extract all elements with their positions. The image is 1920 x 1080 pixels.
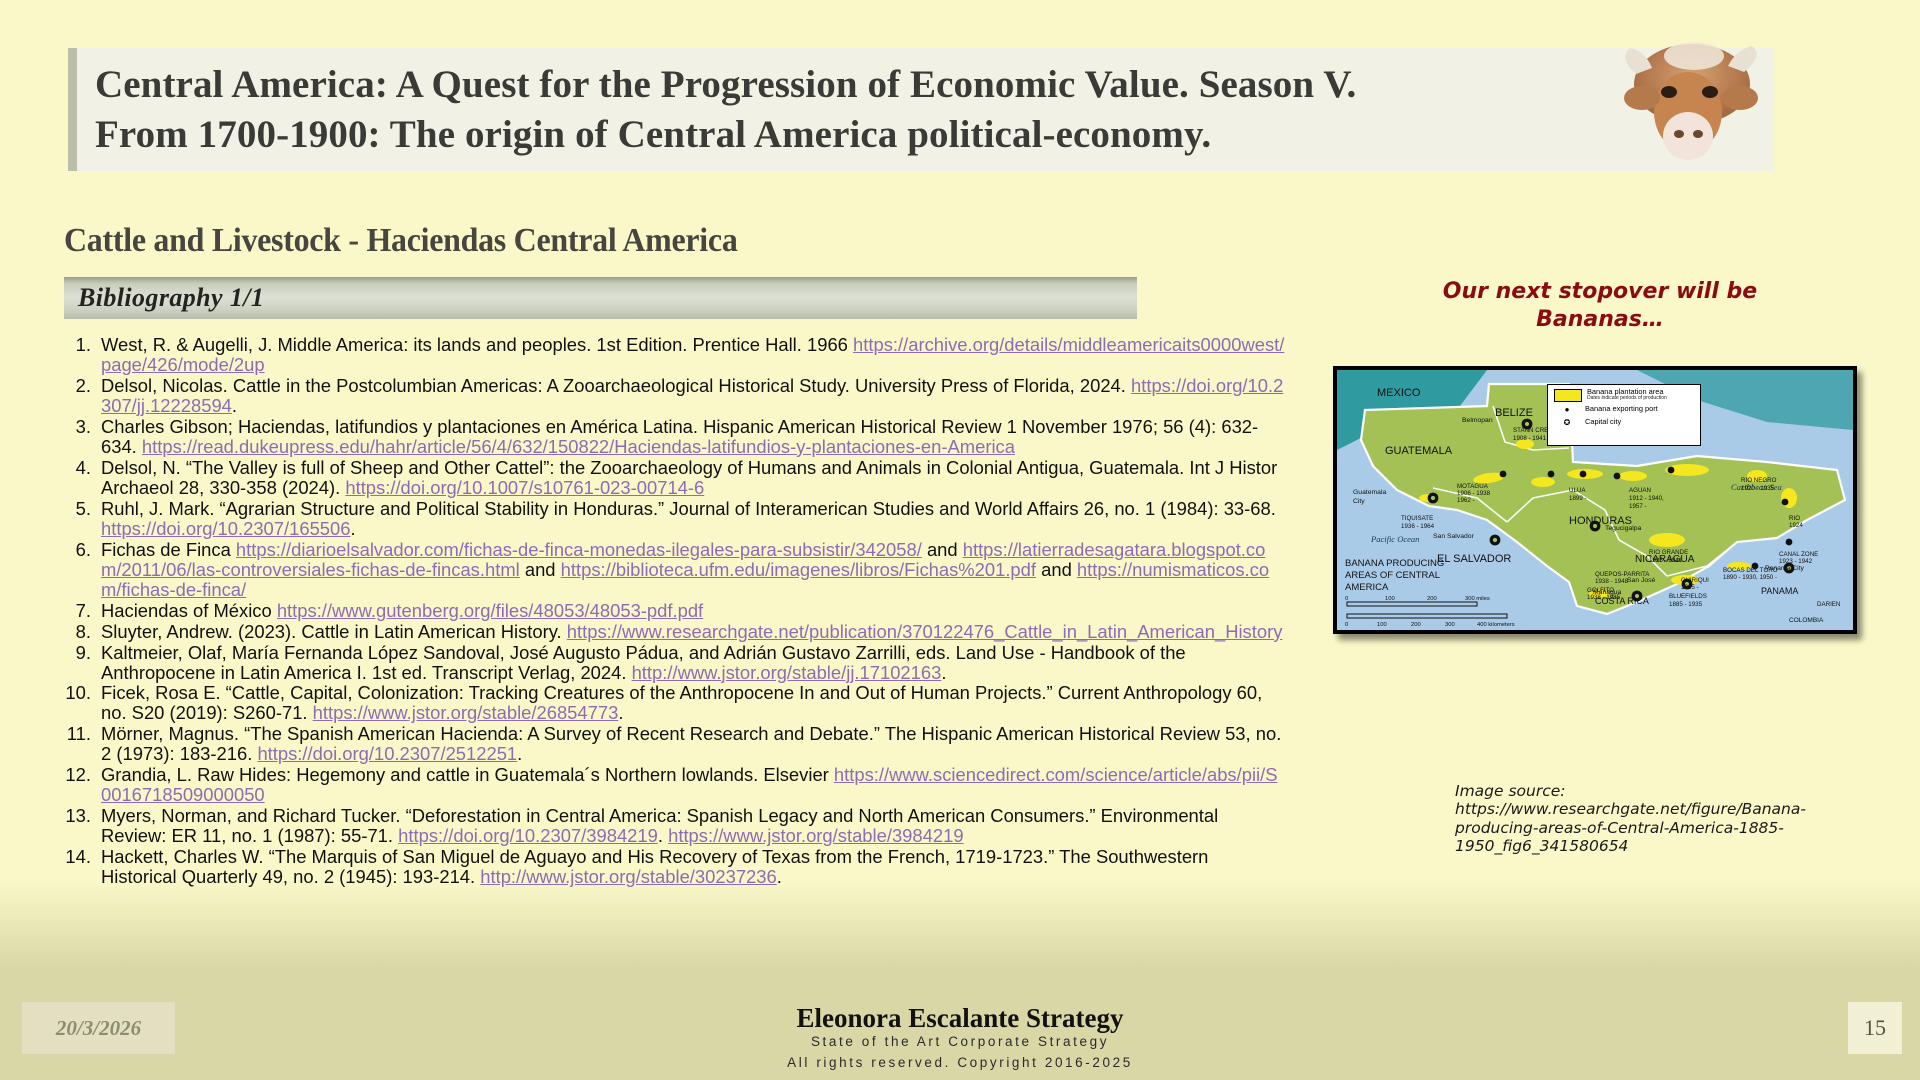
- svg-text:RIO: RIO: [1789, 515, 1800, 522]
- bibliography-entry-number: 5.: [55, 499, 101, 539]
- svg-text:MOTAGUA: MOTAGUA: [1457, 483, 1489, 490]
- bibliography-entry-number: 11.: [55, 724, 101, 764]
- bibliography-entry-text: Delsol, N. “The Valley is full of Sheep …: [101, 458, 1285, 498]
- svg-text:CHIRIQUI: CHIRIQUI: [1681, 577, 1709, 584]
- svg-text:RIO GRANDE: RIO GRANDE: [1649, 549, 1688, 556]
- svg-text:1925 -: 1925 -: [1681, 584, 1699, 591]
- bibliography-link[interactable]: https://www.researchgate.net/publication…: [567, 621, 1283, 642]
- bibliography-bar-label: Bibliography 1/1: [64, 283, 264, 313]
- bibliography-link[interactable]: https://doi.org/10.2307/165506: [101, 518, 351, 539]
- bibliography-entry-number: 9.: [55, 643, 101, 683]
- bibliography-link[interactable]: https://doi.org/10.1007/s10761-023-00714…: [345, 477, 704, 498]
- svg-text:PANAMA: PANAMA: [1761, 586, 1798, 596]
- bibliography-entry-number: 12.: [55, 765, 101, 805]
- legend-plantation-sub: Dates indicate periods of production: [1587, 396, 1667, 402]
- title-line-1: Central America: A Quest for the Progres…: [95, 60, 1356, 110]
- svg-text:200: 200: [1411, 622, 1421, 628]
- bibliography-entry-text: Ruhl, J. Mark. “Agrarian Structure and P…: [101, 499, 1285, 539]
- bibliography-entry-number: 3.: [55, 417, 101, 457]
- image-source-caption: Image source: https://www.researchgate.n…: [1455, 782, 1855, 855]
- bibliography-link[interactable]: https://doi.org/10.2307/2512251: [257, 743, 517, 764]
- bibliography-entry: 3.Charles Gibson; Haciendas, latifundios…: [55, 417, 1285, 457]
- svg-text:300 miles: 300 miles: [1465, 596, 1490, 602]
- bibliography-entry-number: 13.: [55, 806, 101, 846]
- svg-text:DARIEN: DARIEN: [1817, 601, 1840, 608]
- svg-text:GOLFITO: GOLFITO: [1587, 587, 1614, 594]
- svg-text:1925 - 1941: 1925 - 1941: [1649, 557, 1683, 564]
- svg-text:AREAS OF CENTRAL: AREAS OF CENTRAL: [1345, 570, 1440, 581]
- bibliography-link[interactable]: https://www.gutenberg.org/files/48053/48…: [277, 600, 703, 621]
- svg-text:QUEPOS-PARRITA: QUEPOS-PARRITA: [1595, 571, 1650, 578]
- svg-text:1912 - 1940,: 1912 - 1940,: [1629, 495, 1664, 502]
- title-accent-bar: [68, 48, 77, 171]
- svg-text:BOCAS DEL TORO: BOCAS DEL TORO: [1723, 567, 1778, 574]
- bibliography-entry: 2.Delsol, Nicolas. Cattle in the Postcol…: [55, 376, 1285, 416]
- bibliography-link[interactable]: http://www.jstor.org/stable/jj.17102163: [632, 662, 942, 683]
- bibliography-entry: 10.Ficek, Rosa E. “Cattle, Capital, Colo…: [55, 683, 1285, 723]
- svg-text:1957 -: 1957 -: [1629, 503, 1647, 510]
- svg-text:Belmopan: Belmopan: [1462, 417, 1493, 424]
- bibliography-text-fragment: .: [351, 518, 356, 539]
- bibliography-text-fragment: West, R. & Augelli, J. Middle America: i…: [101, 334, 853, 355]
- bibliography-entry-text: Sluyter, Andrew. (2023). Cattle in Latin…: [101, 622, 1285, 642]
- bibliography-entry: 8.Sluyter, Andrew. (2023). Cattle in Lat…: [55, 622, 1285, 642]
- bibliography-entry-number: 1.: [55, 335, 101, 375]
- svg-text:0: 0: [1345, 596, 1348, 602]
- bibliography-entry-text: Myers, Norman, and Richard Tucker. “Defo…: [101, 806, 1285, 846]
- svg-text:ULUA: ULUA: [1569, 487, 1586, 494]
- bibliography-text-fragment: .: [941, 662, 946, 683]
- svg-text:200: 200: [1427, 596, 1437, 602]
- svg-text:GUATEMALA: GUATEMALA: [1385, 445, 1453, 457]
- bibliography-text-fragment: Fichas de Finca: [101, 539, 236, 560]
- bibliography-entry-text: Hackett, Charles W. “The Marquis of San …: [101, 847, 1285, 887]
- bibliography-link[interactable]: https://www.jstor.org/stable/26854773: [313, 702, 619, 723]
- bibliography-list: 1.West, R. & Augelli, J. Middle America:…: [55, 335, 1285, 888]
- svg-text:TIQUISATE: TIQUISATE: [1401, 515, 1433, 522]
- svg-text:1923 - 1942: 1923 - 1942: [1779, 558, 1813, 565]
- bibliography-text-fragment: .: [517, 743, 522, 764]
- bibliography-entry: 13.Myers, Norman, and Richard Tucker. “D…: [55, 806, 1285, 846]
- bibliography-entry: 12. Grandia, L. Raw Hides: Hegemony and …: [55, 765, 1285, 805]
- bibliography-link[interactable]: https://doi.org/10.2307/3984219: [398, 825, 658, 846]
- bibliography-text-fragment: and: [922, 539, 963, 560]
- next-stopover-note: Our next stopover will be Bananas…: [1400, 278, 1800, 333]
- legend-capital-label: Capital city: [1580, 418, 1621, 426]
- page-title: Central America: A Quest for the Progres…: [68, 60, 1556, 160]
- section-heading: Cattle and Livestock - Haciendas Central…: [64, 222, 738, 260]
- bibliography-entry-number: 14.: [55, 847, 101, 887]
- svg-text:1938 - 1985: 1938 - 1985: [1587, 594, 1621, 601]
- bibliography-link[interactable]: https://biblioteca.ufm.edu/imagenes/libr…: [561, 559, 1036, 580]
- bibliography-entry-number: 2.: [55, 376, 101, 416]
- bibliography-text-fragment: Ficek, Rosa E. “Cattle, Capital, Coloniz…: [101, 682, 1262, 723]
- bibliography-text-fragment: Haciendas of México: [101, 600, 277, 621]
- bibliography-text-fragment: .: [777, 866, 782, 887]
- bibliography-entry-number: 7.: [55, 601, 101, 621]
- svg-text:1885 - 1935: 1885 - 1935: [1669, 601, 1703, 608]
- page-number: 15: [1864, 1015, 1886, 1041]
- bibliography-entry: 4.Delsol, N. “The Valley is full of Shee…: [55, 458, 1285, 498]
- svg-text:400 kilometers: 400 kilometers: [1477, 622, 1515, 628]
- bibliography-entry: 6.Fichas de Finca https://diarioelsalvad…: [55, 540, 1285, 600]
- svg-text:CANAL ZONE: CANAL ZONE: [1779, 551, 1818, 558]
- svg-text:COLOMBIA: COLOMBIA: [1789, 617, 1824, 624]
- svg-text:1906 - 1938: 1906 - 1938: [1457, 490, 1491, 497]
- svg-text:Pacific Ocean: Pacific Ocean: [1370, 534, 1419, 544]
- banana-map-figure: MEXICO BELIZE GUATEMALA HONDURAS EL SALV…: [1333, 366, 1857, 634]
- svg-text:BANANA PRODUCING: BANANA PRODUCING: [1345, 558, 1444, 569]
- page-number-box: 15: [1848, 1002, 1902, 1054]
- bibliography-entry: 7.Haciendas of México https://www.gutenb…: [55, 601, 1285, 621]
- cow-image: [1584, 26, 1784, 176]
- svg-text:1899 -: 1899 -: [1569, 495, 1587, 502]
- port-dot-icon: ●: [1554, 405, 1580, 415]
- brand-footer: Eleonora Escalante Strategy State of the…: [0, 1004, 1920, 1073]
- svg-text:1890 - 1930, 1950 -: 1890 - 1930, 1950 -: [1723, 574, 1777, 581]
- bibliography-link[interactable]: https://read.dukeupress.edu/hahr/article…: [142, 436, 1015, 457]
- bibliography-entry: 5.Ruhl, J. Mark. “Agrarian Structure and…: [55, 499, 1285, 539]
- map-canvas: MEXICO BELIZE GUATEMALA HONDURAS EL SALV…: [1337, 370, 1853, 630]
- svg-text:1938 - 1948: 1938 - 1948: [1595, 578, 1629, 585]
- bibliography-entry-number: 4.: [55, 458, 101, 498]
- svg-text:1924: 1924: [1789, 522, 1803, 529]
- bibliography-entry-text: Delsol, Nicolas. Cattle in the Postcolum…: [101, 376, 1285, 416]
- svg-text:1962 -: 1962 -: [1457, 497, 1475, 504]
- brand-tagline: State of the Art Corporate Strategy: [0, 1032, 1920, 1052]
- bibliography-text-fragment: .: [658, 825, 668, 846]
- legend-port-label: Banana exporting port: [1580, 405, 1658, 413]
- svg-text:San Salvador: San Salvador: [1433, 533, 1475, 540]
- legend-row-port: ● Banana exporting port: [1548, 402, 1700, 415]
- svg-text:Tegucigalpa: Tegucigalpa: [1605, 525, 1641, 532]
- svg-text:1936 - 1964: 1936 - 1964: [1401, 523, 1435, 530]
- svg-text:MEXICO: MEXICO: [1377, 387, 1421, 399]
- svg-text:City: City: [1353, 498, 1365, 505]
- bibliography-entry-text: Mörner, Magnus. “The Spanish American Ha…: [101, 724, 1285, 764]
- bibliography-text-fragment: Ruhl, J. Mark. “Agrarian Structure and P…: [101, 498, 1276, 519]
- svg-text:AGUAN: AGUAN: [1629, 487, 1651, 494]
- svg-text:AMERICA: AMERICA: [1345, 582, 1389, 593]
- bibliography-entry: 14.Hackett, Charles W. “The Marquis of S…: [55, 847, 1285, 887]
- bibliography-link[interactable]: http://www.jstor.org/stable/30237236: [480, 866, 776, 887]
- bibliography-entry-number: 6.: [55, 540, 101, 600]
- bibliography-entry-text: West, R. & Augelli, J. Middle America: i…: [101, 335, 1285, 375]
- bibliography-text-fragment: and: [520, 559, 561, 580]
- svg-text:0: 0: [1345, 622, 1348, 628]
- bibliography-entry-number: 8.: [55, 622, 101, 642]
- legend-row-capital: ✪ Capital city: [1548, 415, 1700, 428]
- bibliography-link[interactable]: https://www.jstor.org/stable/3984219: [668, 825, 963, 846]
- bibliography-entry: 11.Mörner, Magnus. “The Spanish American…: [55, 724, 1285, 764]
- footer-gradient: [0, 880, 1920, 968]
- bibliography-entry: 9.Kaltmeier, Olaf, María Fernanda López …: [55, 643, 1285, 683]
- bibliography-entry-text: Haciendas of México https://www.gutenber…: [101, 601, 1285, 621]
- bibliography-entry-text: Fichas de Finca https://diarioelsalvador…: [101, 540, 1285, 600]
- map-legend: Banana plantation area Dates indicate pe…: [1547, 384, 1701, 446]
- svg-text:300: 300: [1445, 622, 1455, 628]
- slide-title-bar: Central America: A Quest for the Progres…: [68, 48, 1774, 171]
- capital-city-icon: ✪: [1554, 418, 1580, 428]
- svg-text:RIO NEGRO: RIO NEGRO: [1741, 477, 1777, 484]
- bibliography-entry-number: 10.: [55, 683, 101, 723]
- svg-text:EL SALVADOR: EL SALVADOR: [1437, 553, 1511, 565]
- bibliography-text-fragment: Delsol, Nicolas. Cattle in the Postcolum…: [101, 375, 1131, 396]
- bibliography-text-fragment: Sluyter, Andrew. (2023). Cattle in Latin…: [101, 621, 567, 642]
- brand-name: Eleonora Escalante Strategy: [0, 1004, 1920, 1032]
- bibliography-text-fragment: .: [618, 702, 623, 723]
- bibliography-entry-text: Kaltmeier, Olaf, María Fernanda López Sa…: [101, 643, 1285, 683]
- plantation-swatch-icon: [1554, 389, 1582, 402]
- svg-text:100: 100: [1377, 622, 1387, 628]
- svg-text:BELIZE: BELIZE: [1495, 407, 1533, 419]
- svg-text:1920 - 1935: 1920 - 1935: [1741, 485, 1775, 492]
- svg-text:Guatemala: Guatemala: [1353, 489, 1386, 496]
- bibliography-text-fragment: .: [232, 395, 237, 416]
- bibliography-entry-text: Ficek, Rosa E. “Cattle, Capital, Coloniz…: [101, 683, 1285, 723]
- brand-copyright: All rights reserved. Copyright 2016-2025: [0, 1053, 1920, 1073]
- title-line-2: From 1700-1900: The origin of Central Am…: [95, 110, 1356, 160]
- bibliography-link[interactable]: https://diarioelsalvador.com/fichas-de-f…: [236, 539, 922, 560]
- svg-text:San José: San José: [1627, 577, 1656, 584]
- bibliography-entry: 1.West, R. & Augelli, J. Middle America:…: [55, 335, 1285, 375]
- svg-text:100: 100: [1385, 596, 1395, 602]
- legend-row-plantation: Banana plantation area Dates indicate pe…: [1548, 385, 1700, 402]
- bibliography-text-fragment: and: [1036, 559, 1077, 580]
- svg-text:1908 - 1941: 1908 - 1941: [1513, 435, 1547, 442]
- bibliography-entry-text: Charles Gibson; Haciendas, latifundios y…: [101, 417, 1285, 457]
- bibliography-text-fragment: Grandia, L. Raw Hides: Hegemony and catt…: [101, 764, 834, 785]
- svg-text:BLUEFIELDS: BLUEFIELDS: [1669, 593, 1707, 600]
- bibliography-bar: Bibliography 1/1: [64, 277, 1137, 319]
- bibliography-entry-text: Grandia, L. Raw Hides: Hegemony and catt…: [101, 765, 1285, 805]
